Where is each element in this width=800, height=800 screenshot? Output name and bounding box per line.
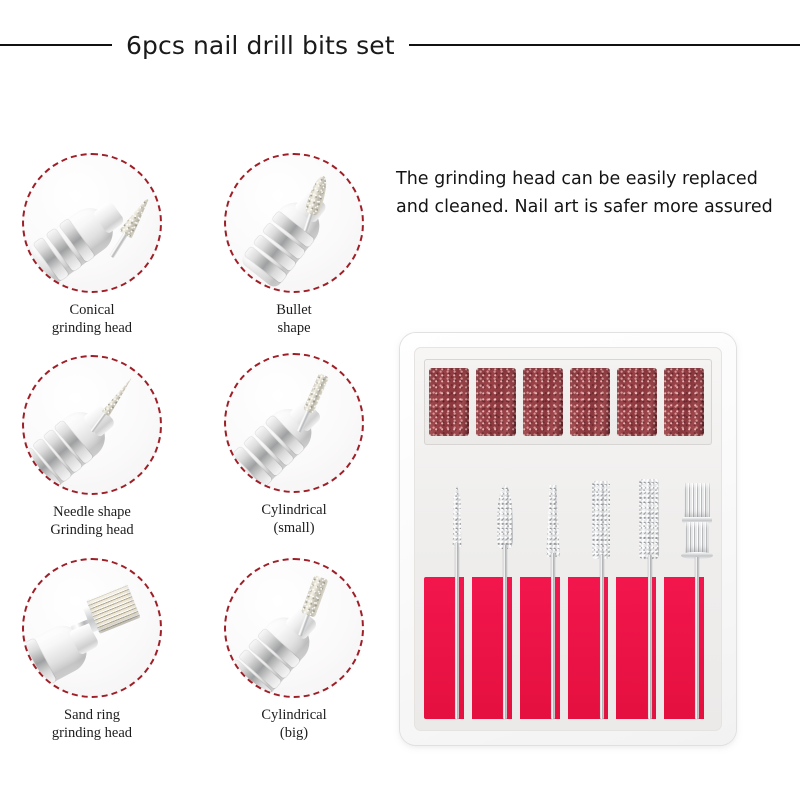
bit-caption-sand-ring: Sand ring grinding head: [16, 706, 168, 742]
bit-cell-bullet: Bullet shape: [218, 153, 370, 337]
caption-line: Cylindrical: [218, 706, 370, 724]
bit-caption-cylindrical-big: Cylindrical (big): [218, 706, 370, 742]
tray-bit-conical: [538, 485, 568, 719]
title-rule-left: [0, 44, 112, 46]
bit-caption-bullet: Bullet shape: [218, 301, 370, 337]
page-title: 6pcs nail drill bits set: [112, 31, 409, 60]
bit-head-cylindrical-big: [301, 575, 329, 618]
product-infographic: 6pcs nail drill bits set The grinding he…: [0, 0, 800, 800]
caption-line: Bullet: [218, 301, 370, 319]
bit-shank: [551, 553, 555, 719]
caption-line: Grinding head: [16, 521, 168, 539]
tray-inner: [414, 347, 722, 731]
sanding-band: [476, 368, 516, 436]
caption-line: Sand ring: [16, 706, 168, 724]
bit-photo-conical: [24, 155, 160, 291]
bit-photo-cylindrical-big: [226, 560, 362, 696]
bit-circle-sand-ring: [22, 558, 162, 698]
bit-head: [592, 481, 610, 559]
title-rule-right: [409, 44, 800, 46]
mandrel-barrel: [685, 522, 709, 554]
bit-head: [451, 485, 463, 547]
bit-circle-cylindrical-small: [224, 353, 364, 493]
bit-bullet: [291, 170, 341, 239]
bit-photo-bullet: [226, 155, 362, 291]
mandrel-barrel: [684, 483, 710, 519]
caption-line: grinding head: [16, 319, 168, 337]
bit-head: [545, 485, 561, 557]
sanding-band: [570, 368, 610, 436]
bit-caption-conical: Conical grinding head: [16, 301, 168, 337]
bit-head-bullet: [304, 174, 331, 217]
bit-shank: [648, 555, 652, 719]
tray-bit-needle: [442, 485, 472, 719]
caption-line: Needle shape: [16, 503, 168, 521]
sanding-band: [664, 368, 704, 436]
bit-circle-bullet: [224, 153, 364, 293]
bit-head: [497, 485, 513, 549]
bit-head-cylindrical-small: [303, 373, 329, 414]
sanding-band: [429, 368, 469, 436]
sanding-band: [523, 368, 563, 436]
title-bar: 6pcs nail drill bits set: [0, 28, 800, 62]
product-tray-photo: [400, 333, 736, 745]
sanding-band-compartment: [424, 359, 712, 445]
bit-circle-conical: [22, 153, 162, 293]
caption-line: (small): [218, 519, 370, 537]
bit-photo-needle: [24, 357, 160, 493]
bit-cell-needle: Needle shape Grinding head: [16, 355, 168, 539]
bit-shank: [455, 543, 459, 719]
bit-caption-needle: Needle shape Grinding head: [16, 503, 168, 539]
caption-line: shape: [218, 319, 370, 337]
caption-line: Cylindrical: [218, 501, 370, 519]
tray-bit-cylindrical-big: [634, 479, 664, 719]
bit-cell-cylindrical-small: Cylindrical (small): [218, 353, 370, 537]
bit-cylindrical-big: [283, 570, 340, 646]
bit-shank: [503, 545, 507, 719]
tray-bit-bullet: [490, 485, 520, 719]
bit-head-conical: [119, 195, 154, 239]
bit-cell-sand-ring: Sand ring grinding head: [16, 558, 168, 742]
bit-shank: [695, 557, 699, 719]
bit-photo-sand-ring: [24, 560, 160, 696]
bit-shank: [600, 555, 604, 719]
description-line-2: and cleaned. Nail art is safer more assu…: [396, 193, 776, 221]
caption-line: grinding head: [16, 724, 168, 742]
bit-circle-needle: [22, 355, 162, 495]
tray-bit-sand-ring: [680, 481, 714, 719]
bit-cell-cylindrical-big: Cylindrical (big): [218, 558, 370, 742]
bit-head-needle: [102, 376, 135, 417]
bit-photo-cylindrical-small: [226, 355, 362, 491]
tray-bit-cylindrical-small: [586, 481, 616, 719]
description-text: The grinding head can be easily replaced…: [396, 165, 776, 221]
bit-caption-cylindrical-small: Cylindrical (small): [218, 501, 370, 537]
bit-circle-cylindrical-big: [224, 558, 364, 698]
bit-cell-conical: Conical grinding head: [16, 153, 168, 337]
caption-line: Conical: [16, 301, 168, 319]
sanding-band: [617, 368, 657, 436]
bit-head: [639, 479, 659, 559]
caption-line: (big): [218, 724, 370, 742]
description-line-1: The grinding head can be easily replaced: [396, 165, 776, 193]
